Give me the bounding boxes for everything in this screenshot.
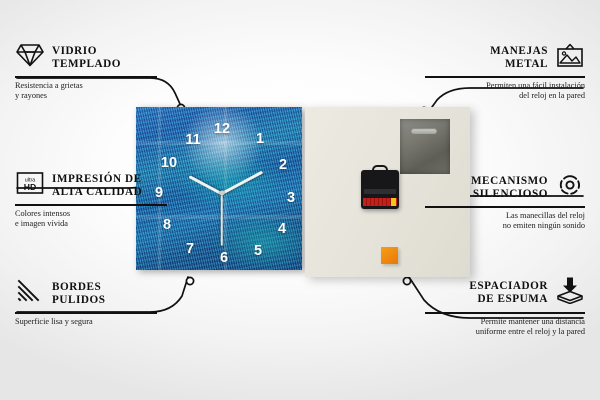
feature-head: MANEJAS METAL — [425, 42, 585, 73]
connector-dot-bordes — [186, 277, 193, 284]
mechanism-hanging-loop — [372, 165, 388, 174]
feature-rule — [15, 312, 157, 314]
clock-numeral-2: 2 — [279, 158, 287, 173]
feature-bordes-pulidos: BORDES PULIDOS Superficie lisa y segura — [15, 278, 175, 327]
feature-title: ESPACIADOR DE ESPUMA — [469, 280, 548, 305]
feature-description: Permite mantener una distancia uniforme … — [425, 317, 585, 337]
gear-icon — [555, 172, 585, 203]
clock-numeral-7: 7 — [186, 242, 194, 257]
feature-vidrio-templado: VIDRIO TEMPLADO Resistencia a grietas y … — [15, 42, 175, 102]
mechanism-band — [364, 189, 396, 194]
foam-spacer-icon — [555, 276, 585, 309]
diamond-icon — [15, 42, 45, 73]
feature-head: BORDES PULIDOS — [15, 278, 175, 309]
polished-edges-icon — [15, 278, 45, 309]
feature-rule — [425, 76, 585, 78]
quartz-clock-mechanism — [361, 170, 399, 209]
feature-description: Permiten una fácil instalación del reloj… — [425, 81, 585, 101]
feature-head: ESPACIADOR DE ESPUMA — [425, 276, 585, 309]
ultra-hd-icon: ultra HD — [15, 170, 45, 201]
hanger-slot — [411, 128, 437, 134]
feature-description: Resistencia a grietas y rayones — [15, 81, 175, 101]
feature-rule — [15, 204, 167, 206]
clock-numeral-12: 12 — [214, 122, 230, 137]
clock-numeral-3: 3 — [287, 191, 295, 206]
print-wave-1 — [170, 153, 290, 211]
feature-description: Las manecillas del reloj no emiten ningú… — [425, 211, 585, 231]
feature-mecanismo-silencioso: MECANISMO SILENCIOSO Las manecillas del … — [425, 172, 585, 232]
feature-description: Superficie lisa y segura — [15, 317, 175, 327]
feature-title: IMPRESIÓN DE ALTA CALIDAD — [52, 173, 142, 198]
clock-numeral-6: 6 — [220, 251, 228, 266]
clock-numeral-4: 4 — [278, 222, 286, 237]
clock-numeral-1: 1 — [256, 132, 264, 147]
feature-head: MECANISMO SILENCIOSO — [425, 172, 585, 203]
connector-dot-espaciador — [403, 277, 410, 284]
feature-impresion-alta-calidad: ultra HD IMPRESIÓN DE ALTA CALIDAD Color… — [15, 170, 185, 230]
wall-mount-icon — [555, 42, 585, 73]
feature-title: BORDES PULIDOS — [52, 281, 106, 306]
feature-title: MECANISMO SILENCIOSO — [471, 175, 548, 200]
metal-hanger-plate — [400, 119, 450, 174]
feature-espaciador-espuma: ESPACIADOR DE ESPUMA Permite mantener un… — [425, 276, 585, 338]
feature-rule — [15, 76, 157, 78]
infographic-canvas: 12 1 2 3 4 5 6 7 8 9 10 11 — [0, 0, 600, 400]
mechanism-yellow-mark — [391, 198, 396, 206]
feature-head: ultra HD IMPRESIÓN DE ALTA CALIDAD — [15, 170, 185, 201]
clock-numeral-10: 10 — [161, 156, 177, 171]
feature-rule — [425, 206, 585, 208]
feature-description: Colores intensos e imagen vívida — [15, 209, 185, 229]
feature-title: MANEJAS METAL — [490, 45, 548, 70]
feature-head: VIDRIO TEMPLADO — [15, 42, 175, 73]
feature-manejas-metal: MANEJAS METAL Permiten una fácil instala… — [425, 42, 585, 102]
feature-rule — [425, 312, 585, 314]
clock-numeral-11: 11 — [185, 133, 200, 148]
foam-spacer-square — [381, 247, 398, 264]
clock-second-hand — [221, 193, 223, 245]
clock-center-hub — [220, 191, 225, 196]
svg-text:HD: HD — [24, 182, 36, 192]
clock-numeral-5: 5 — [254, 244, 262, 259]
feature-title: VIDRIO TEMPLADO — [52, 45, 121, 70]
